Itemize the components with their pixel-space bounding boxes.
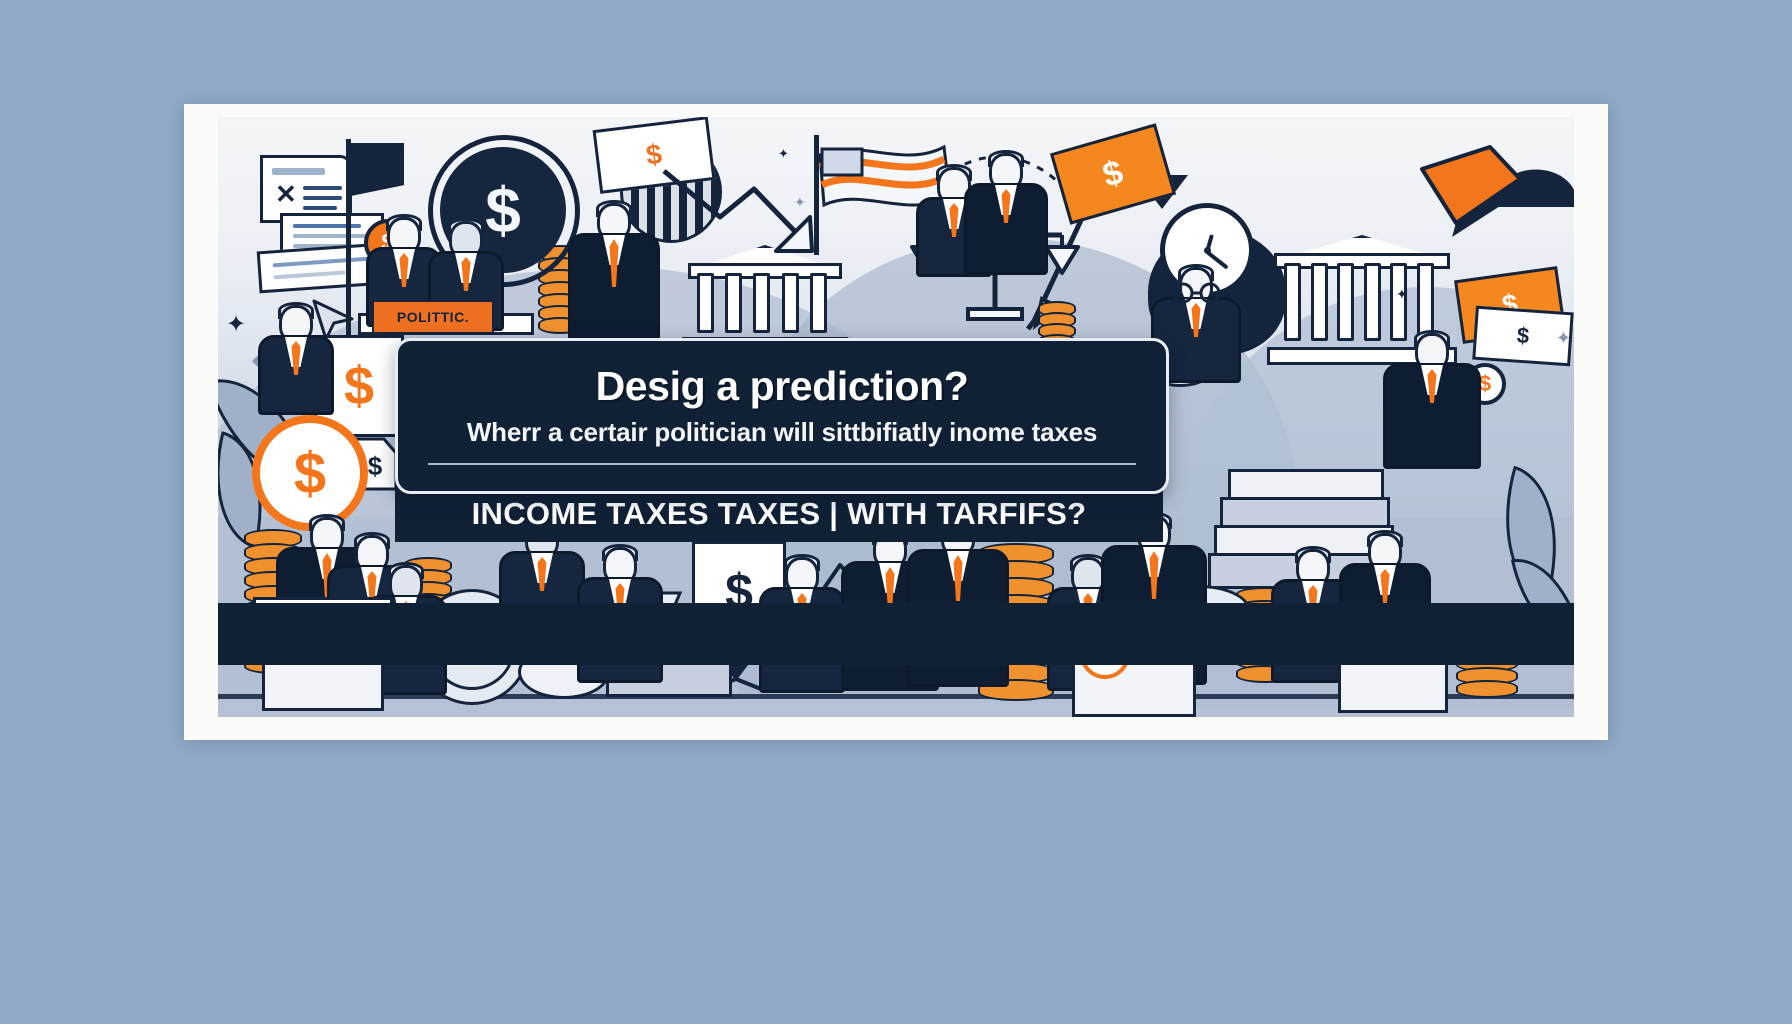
orange-plate-icon bbox=[1416, 143, 1526, 239]
star-icon-e: ✦ bbox=[1556, 329, 1571, 347]
x-mark-icon: ✕ bbox=[275, 184, 297, 206]
star-icon-c: ✦ bbox=[778, 147, 789, 160]
politician-figure-5 bbox=[966, 153, 1046, 273]
eyeglasses-icon bbox=[1170, 283, 1224, 303]
star-icon-a: ✦ bbox=[226, 313, 246, 337]
illustration-stage: ✕ $ ✦ ◆ $ bbox=[0, 0, 1792, 1024]
sub-band: INCOME TAXES TAXES | WITH TARFIFS? bbox=[395, 486, 1163, 542]
trend-arrow-icon bbox=[658, 159, 838, 263]
dollar-coin-large-left: $ bbox=[252, 415, 368, 531]
plaque-subtitle: Wherr a certair politician will sittbifi… bbox=[398, 417, 1166, 448]
politician-figure-3 bbox=[570, 203, 658, 353]
plaque-title: Desig a prediction? bbox=[398, 363, 1166, 410]
politician-figure-7 bbox=[1386, 333, 1478, 473]
politic-banner: POLITTIC. bbox=[372, 300, 494, 334]
star-icon-f: ✦ bbox=[1396, 287, 1408, 301]
sub-band-text: INCOME TAXES TAXES | WITH TARFIFS? bbox=[395, 496, 1163, 532]
headline-plaque: Desig a prediction? Wherr a certair poli… bbox=[395, 338, 1169, 494]
svg-text:$: $ bbox=[368, 451, 383, 481]
black-flag-icon bbox=[346, 143, 404, 197]
politician-figure-8 bbox=[258, 305, 334, 421]
plaque-divider bbox=[428, 463, 1136, 465]
star-icon-d: ✦ bbox=[794, 195, 806, 209]
politic-banner-label: POLITTIC. bbox=[397, 309, 469, 325]
dark-separator-bar bbox=[218, 603, 1574, 665]
